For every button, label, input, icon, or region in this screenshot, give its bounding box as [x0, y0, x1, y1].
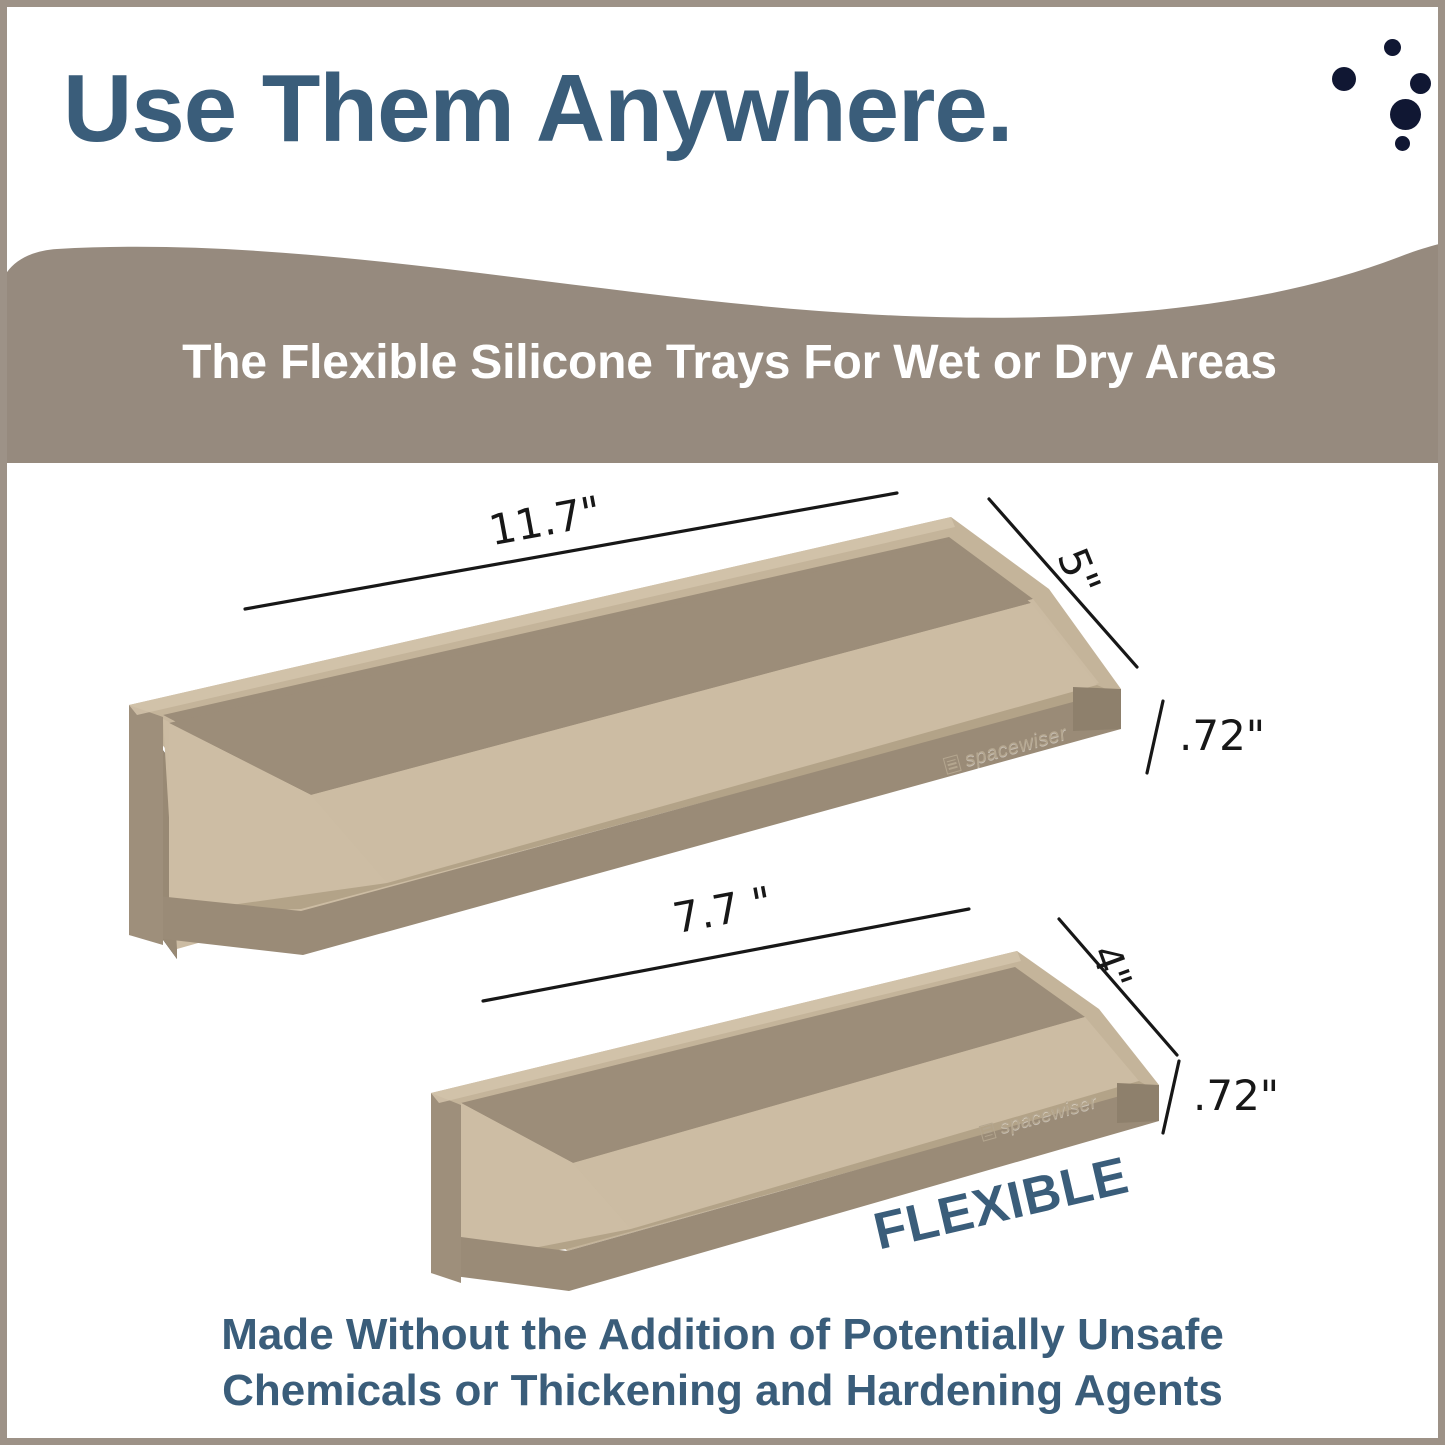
small-tray-height-label: .72"	[1193, 1071, 1279, 1120]
small-tray-width-leader	[1055, 915, 1205, 1075]
footer-line-2: Chemicals or Thickening and Hardening Ag…	[7, 1363, 1438, 1419]
footer-claim: Made Without the Addition of Potentially…	[7, 1307, 1438, 1420]
product-illustration-stage: spacewiser 11.7" 5" .72"	[7, 463, 1445, 1303]
decorative-dot-5	[1395, 136, 1410, 151]
small-tray-height-leader	[1155, 1059, 1195, 1139]
large-tray-height-leader	[1141, 699, 1181, 779]
page-title: Use Them Anywhere.	[63, 59, 1012, 160]
decorative-dot-3	[1410, 73, 1431, 94]
footer-line-1: Made Without the Addition of Potentially…	[7, 1307, 1438, 1363]
banner-subtitle: The Flexible Silicone Trays For Wet or D…	[0, 335, 1445, 390]
subtitle-banner: The Flexible Silicone Trays For Wet or D…	[0, 239, 1445, 463]
infographic-root: Use Them Anywhere. The Flexible Silicone…	[0, 0, 1445, 1445]
decorative-dot-1	[1384, 39, 1401, 56]
decorative-dot-cluster	[1312, 31, 1432, 171]
decorative-dot-4	[1390, 99, 1421, 130]
decorative-dot-2	[1332, 67, 1356, 91]
large-tray-height-label: .72"	[1179, 711, 1265, 760]
